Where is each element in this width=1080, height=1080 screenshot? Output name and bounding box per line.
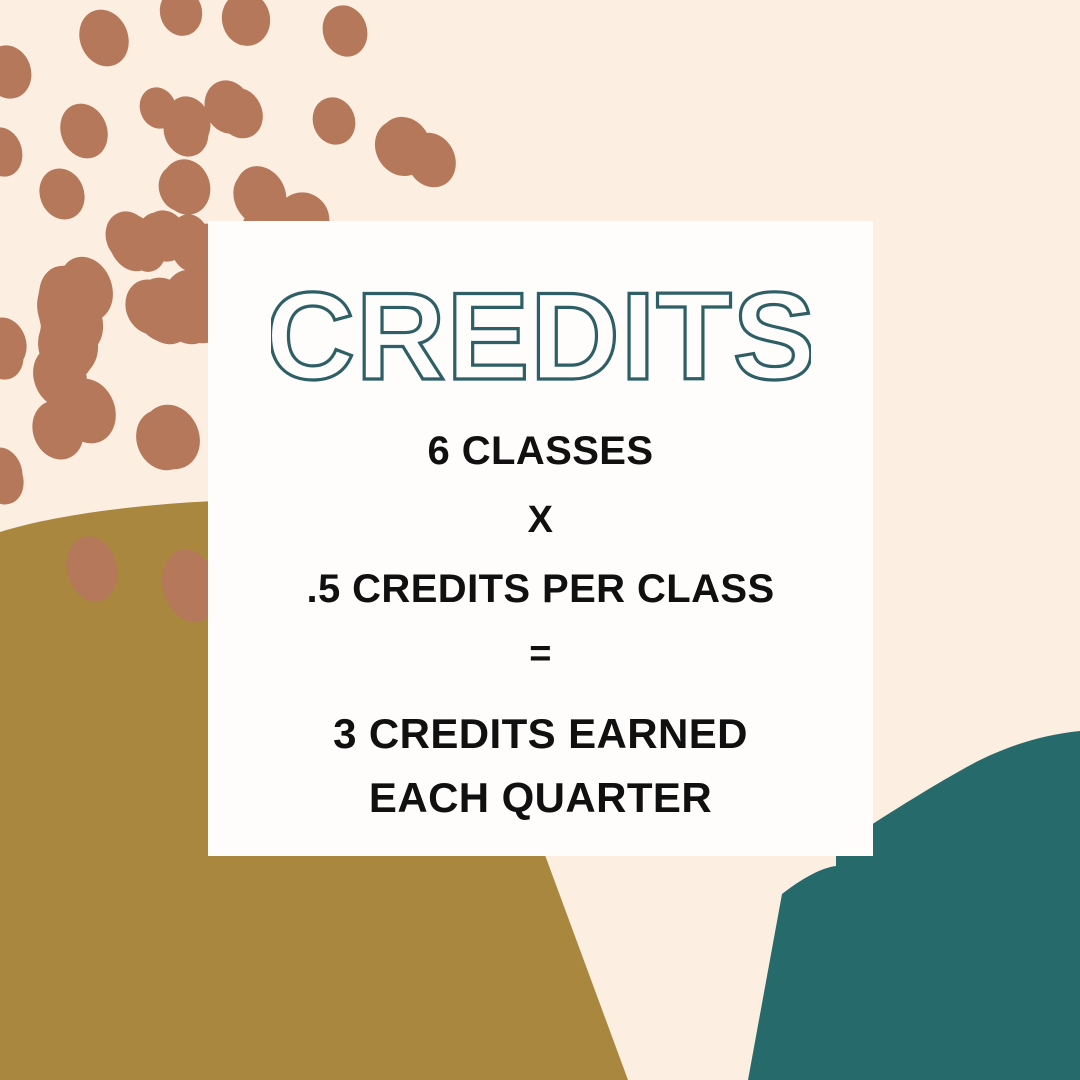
formula-line-equals: =: [208, 635, 873, 673]
formula-line-multiply: X: [208, 501, 873, 539]
formula-line-classes: 6 CLASSES: [208, 431, 873, 471]
formula-line-per-credit: .5 CREDITS PER CLASS: [208, 569, 873, 609]
poster-canvas: CREDITS 6 CLASSES X .5 CREDITS PER CLASS…: [0, 0, 1080, 1080]
credits-formula: 6 CLASSES X .5 CREDITS PER CLASS = 3 CRE…: [208, 431, 873, 819]
formula-line-result-2: EACH QUARTER: [208, 777, 873, 819]
formula-line-result-1: 3 CREDITS EARNED: [208, 713, 873, 755]
content-card: CREDITS 6 CLASSES X .5 CREDITS PER CLASS…: [208, 221, 873, 856]
page-title-container: CREDITS: [208, 277, 873, 407]
credits-title-svg: CREDITS: [271, 278, 811, 406]
page-title: CREDITS: [271, 278, 811, 406]
